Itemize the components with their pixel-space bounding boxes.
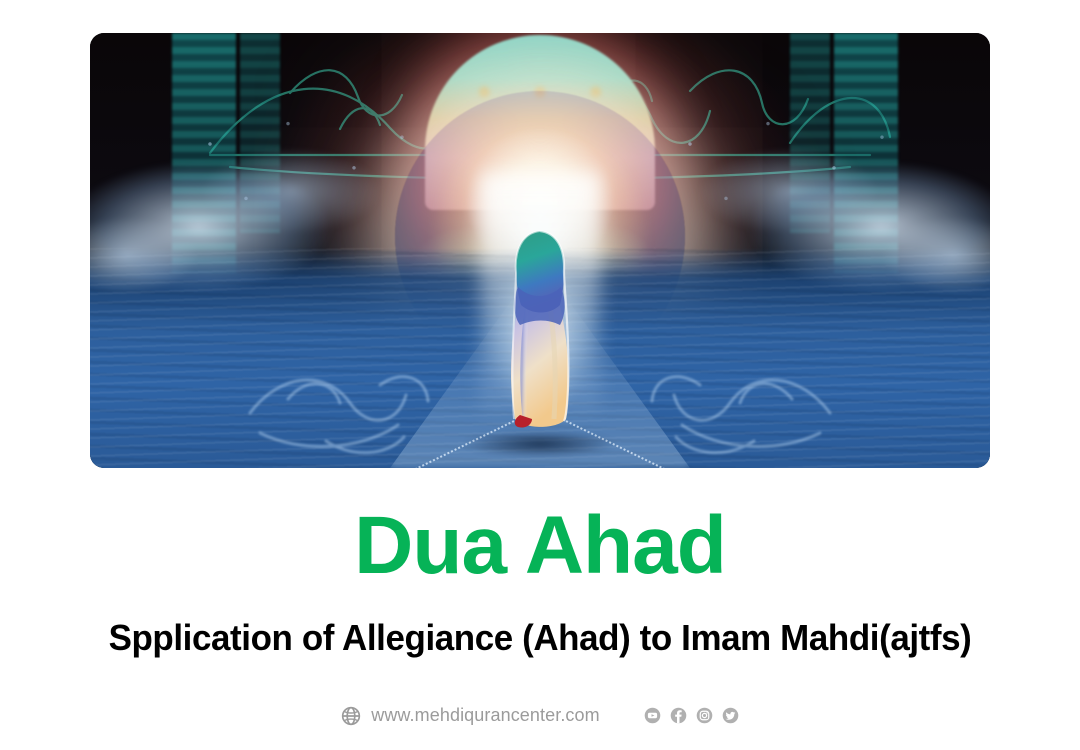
twitter-icon[interactable] (722, 707, 739, 724)
sea-spray-right (630, 93, 930, 263)
facebook-icon[interactable] (670, 707, 687, 724)
robed-figure (498, 229, 582, 445)
globe-icon (341, 706, 361, 726)
instagram-icon[interactable] (696, 707, 713, 724)
website-link[interactable]: www.mehdiqurancenter.com (341, 705, 600, 726)
sea-spray-left (150, 93, 450, 263)
social-links (644, 707, 739, 724)
footer: www.mehdiqurancenter.com (0, 705, 1080, 726)
page-title: Dua Ahad (0, 505, 1080, 587)
hero-image (90, 33, 990, 468)
figure-body (498, 229, 582, 445)
page-subtitle: Spplication of Allegiance (Ahad) to Imam… (16, 616, 1064, 659)
website-url: www.mehdiqurancenter.com (371, 705, 600, 726)
youtube-icon[interactable] (644, 707, 661, 724)
page-root: Dua Ahad Spplication of Allegiance (Ahad… (0, 0, 1080, 750)
